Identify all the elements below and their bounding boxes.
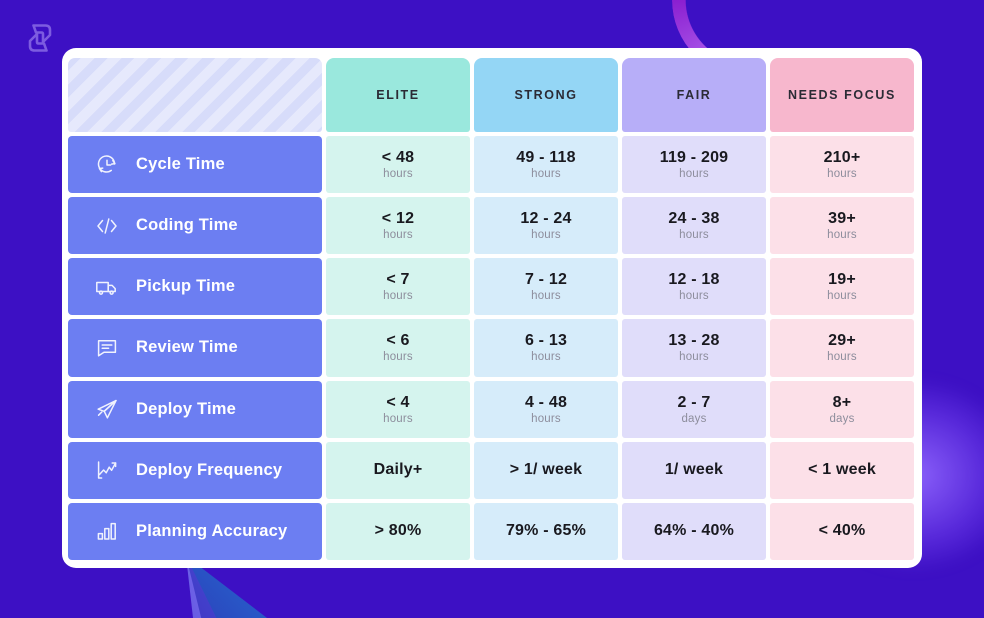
cell-value: 1/ week xyxy=(665,461,723,479)
cell-value: 29+ xyxy=(828,332,856,350)
matrix-header-row: ELITESTRONGFAIRNEEDS FOCUS xyxy=(68,58,914,132)
cell-unit: hours xyxy=(679,168,709,180)
matrix-cell[interactable]: 119 - 209hours xyxy=(622,136,766,193)
matrix-cell[interactable]: < 48hours xyxy=(326,136,470,193)
cell-value: 13 - 28 xyxy=(668,332,719,350)
column-header-fair[interactable]: FAIR xyxy=(622,58,766,132)
cell-value: < 12 xyxy=(382,210,414,228)
matrix-cell[interactable]: Daily+ xyxy=(326,442,470,499)
cell-value: > 80% xyxy=(375,522,422,540)
cell-unit: hours xyxy=(679,351,709,363)
cell-unit: hours xyxy=(383,168,413,180)
cycle-clock-icon xyxy=(94,152,120,178)
metric-row-deploy-frequency[interactable]: Deploy Frequency xyxy=(68,442,322,499)
matrix-cell[interactable]: 12 - 18hours xyxy=(622,258,766,315)
cell-value: 4 - 48 xyxy=(525,394,567,412)
matrix-cell[interactable]: < 12hours xyxy=(326,197,470,254)
cell-unit: hours xyxy=(531,413,561,425)
cell-value: 7 - 12 xyxy=(525,271,567,289)
cell-value: < 7 xyxy=(386,271,409,289)
cell-unit: hours xyxy=(383,290,413,302)
cell-unit: hours xyxy=(827,351,857,363)
metric-row-label: Review Time xyxy=(136,338,238,357)
metrics-matrix: ELITESTRONGFAIRNEEDS FOCUSCycle Time< 48… xyxy=(68,58,914,560)
metric-row-deploy-time[interactable]: Deploy Time xyxy=(68,381,322,438)
cell-unit: hours xyxy=(679,229,709,241)
matrix-cell[interactable]: < 4hours xyxy=(326,381,470,438)
matrix-cell[interactable]: 2 - 7days xyxy=(622,381,766,438)
cell-unit: hours xyxy=(827,168,857,180)
metric-row-cycle-time[interactable]: Cycle Time xyxy=(68,136,322,193)
matrix-cell[interactable]: 13 - 28hours xyxy=(622,319,766,376)
matrix-cell[interactable]: < 7hours xyxy=(326,258,470,315)
cell-unit: hours xyxy=(531,351,561,363)
column-header-label: NEEDS FOCUS xyxy=(788,88,896,102)
code-brackets-icon xyxy=(94,213,120,239)
matrix-cell[interactable]: > 1/ week xyxy=(474,442,618,499)
paper-plane-icon xyxy=(94,396,120,422)
matrix-cell[interactable]: 6 - 13hours xyxy=(474,319,618,376)
matrix-cell[interactable]: 64% - 40% xyxy=(622,503,766,560)
matrix-corner-striped-cell xyxy=(68,58,322,132)
cell-value: 6 - 13 xyxy=(525,332,567,350)
metric-row-label: Coding Time xyxy=(136,216,238,235)
metric-row-label: Pickup Time xyxy=(136,277,235,296)
cell-value: < 48 xyxy=(382,149,414,167)
matrix-cell[interactable]: 19+hours xyxy=(770,258,914,315)
cell-value: 210+ xyxy=(824,149,861,167)
matrix-cell[interactable]: 210+hours xyxy=(770,136,914,193)
cell-value: 64% - 40% xyxy=(654,522,734,540)
cell-value: < 4 xyxy=(386,394,409,412)
metric-row-planning-accuracy[interactable]: Planning Accuracy xyxy=(68,503,322,560)
matrix-row: Deploy FrequencyDaily+> 1/ week1/ week< … xyxy=(68,442,914,499)
cell-value: 119 - 209 xyxy=(660,149,729,167)
cell-value: < 40% xyxy=(819,522,866,540)
cell-unit: hours xyxy=(531,168,561,180)
column-header-label: FAIR xyxy=(677,88,712,102)
cell-unit: days xyxy=(829,413,854,425)
matrix-cell[interactable]: > 80% xyxy=(326,503,470,560)
matrix-cell[interactable]: 4 - 48hours xyxy=(474,381,618,438)
metric-row-label: Cycle Time xyxy=(136,155,225,174)
column-header-label: STRONG xyxy=(514,88,577,102)
metric-row-review-time[interactable]: Review Time xyxy=(68,319,322,376)
matrix-cell[interactable]: 12 - 24hours xyxy=(474,197,618,254)
cell-value: 24 - 38 xyxy=(668,210,719,228)
cell-unit: hours xyxy=(827,229,857,241)
matrix-cell[interactable]: 7 - 12hours xyxy=(474,258,618,315)
cell-unit: days xyxy=(681,413,706,425)
matrix-cell[interactable]: 39+hours xyxy=(770,197,914,254)
cell-value: 19+ xyxy=(828,271,856,289)
column-header-needs-focus[interactable]: NEEDS FOCUS xyxy=(770,58,914,132)
cell-unit: hours xyxy=(531,290,561,302)
column-header-label: ELITE xyxy=(376,88,419,102)
delivery-truck-icon xyxy=(94,274,120,300)
matrix-row: Planning Accuracy> 80%79% - 65%64% - 40%… xyxy=(68,503,914,560)
matrix-cell[interactable]: < 6hours xyxy=(326,319,470,376)
matrix-row: Cycle Time< 48hours49 - 118hours119 - 20… xyxy=(68,136,914,193)
matrix-cell[interactable]: 24 - 38hours xyxy=(622,197,766,254)
cell-unit: hours xyxy=(383,229,413,241)
matrix-cell[interactable]: 8+days xyxy=(770,381,914,438)
column-header-elite[interactable]: ELITE xyxy=(326,58,470,132)
metric-row-label: Deploy Frequency xyxy=(136,461,282,480)
cell-value: 12 - 18 xyxy=(668,271,719,289)
matrix-cell[interactable]: < 1 week xyxy=(770,442,914,499)
cell-unit: hours xyxy=(531,229,561,241)
cell-unit: hours xyxy=(383,413,413,425)
comment-bubble-icon xyxy=(94,335,120,361)
matrix-row: Deploy Time< 4hours4 - 48hours2 - 7days8… xyxy=(68,381,914,438)
cell-value: 79% - 65% xyxy=(506,522,586,540)
cell-value: 2 - 7 xyxy=(677,394,710,412)
cell-value: 8+ xyxy=(833,394,852,412)
brand-logo-icon xyxy=(20,18,60,58)
cell-value: < 6 xyxy=(386,332,409,350)
matrix-row: Pickup Time< 7hours7 - 12hours12 - 18hou… xyxy=(68,258,914,315)
matrix-cell[interactable]: 29+hours xyxy=(770,319,914,376)
metric-row-label: Planning Accuracy xyxy=(136,522,287,541)
cell-unit: hours xyxy=(679,290,709,302)
cell-value: 12 - 24 xyxy=(520,210,571,228)
cell-value: < 1 week xyxy=(808,461,876,479)
dora-metrics-matrix-card: ELITESTRONGFAIRNEEDS FOCUSCycle Time< 48… xyxy=(62,48,922,568)
matrix-cell[interactable]: 79% - 65% xyxy=(474,503,618,560)
cell-unit: hours xyxy=(383,351,413,363)
column-header-strong[interactable]: STRONG xyxy=(474,58,618,132)
cell-unit: hours xyxy=(827,290,857,302)
metric-row-label: Deploy Time xyxy=(136,400,236,419)
line-chart-icon xyxy=(94,457,120,483)
matrix-cell[interactable]: < 40% xyxy=(770,503,914,560)
matrix-cell[interactable]: 49 - 118hours xyxy=(474,136,618,193)
cell-value: 49 - 118 xyxy=(516,149,575,167)
matrix-row: Review Time< 6hours6 - 13hours13 - 28hou… xyxy=(68,319,914,376)
cell-value: Daily+ xyxy=(374,461,423,479)
metric-row-coding-time[interactable]: Coding Time xyxy=(68,197,322,254)
cell-value: > 1/ week xyxy=(510,461,583,479)
matrix-cell[interactable]: 1/ week xyxy=(622,442,766,499)
matrix-row: Coding Time< 12hours12 - 24hours24 - 38h… xyxy=(68,197,914,254)
cell-value: 39+ xyxy=(828,210,856,228)
metric-row-pickup-time[interactable]: Pickup Time xyxy=(68,258,322,315)
bar-chart-icon xyxy=(94,518,120,544)
